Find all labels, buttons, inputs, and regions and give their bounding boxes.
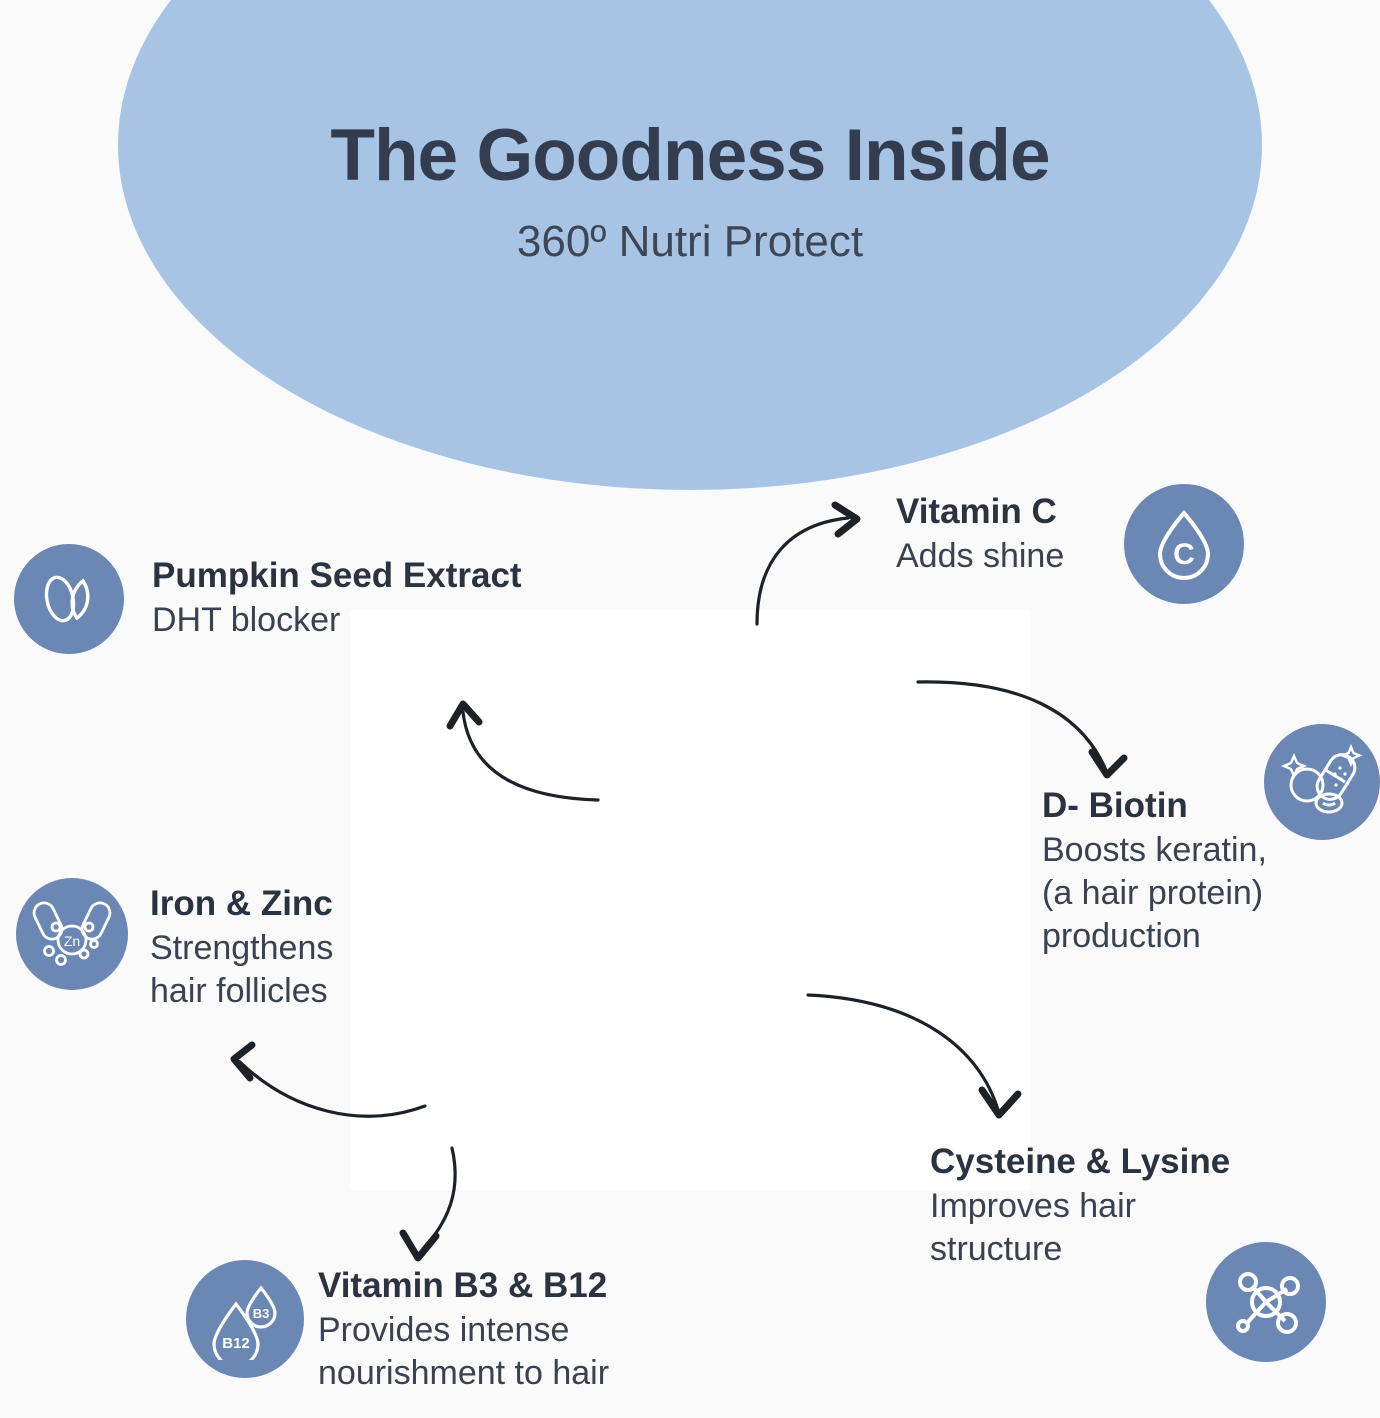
feature-title: D- Biotin bbox=[1042, 786, 1267, 825]
b3-label: B3 bbox=[253, 1306, 270, 1321]
feature-iron-zinc: Iron & Zinc Strengthens hair follicles bbox=[150, 884, 333, 1013]
b12-label: B12 bbox=[222, 1335, 250, 1352]
feature-cysteine-lysine: Cysteine & Lysine Improves hair structur… bbox=[930, 1142, 1230, 1271]
arrowhead-vitamin-b bbox=[403, 1233, 436, 1258]
feature-title: Vitamin B3 & B12 bbox=[318, 1266, 609, 1305]
b3-b12-droplets-icon: B3 B12 bbox=[186, 1260, 304, 1378]
feature-pumpkin-seed-extract: Pumpkin Seed Extract DHT blocker bbox=[152, 556, 522, 642]
capsule-backdrop bbox=[350, 610, 1030, 1190]
arrowhead-d-biotin bbox=[1092, 752, 1124, 775]
zinc-label: Zn bbox=[64, 933, 80, 949]
pumpkin-seed-icon bbox=[14, 544, 124, 654]
zinc-capsules-icon: Zn bbox=[16, 878, 128, 990]
infographic-canvas: The Goodness Inside 360º Nutri Protect bbox=[0, 0, 1380, 1418]
feature-desc: DHT blocker bbox=[152, 599, 522, 642]
arrowhead-vitamin-c bbox=[835, 505, 857, 534]
feature-title: Cysteine & Lysine bbox=[930, 1142, 1230, 1181]
feature-desc: Boosts keratin, (a hair protein) product… bbox=[1042, 829, 1267, 957]
vitamin-c-droplet-icon: C bbox=[1124, 484, 1244, 604]
feature-desc: Adds shine bbox=[896, 535, 1064, 578]
feature-title: Iron & Zinc bbox=[150, 884, 333, 923]
header-blue-dome bbox=[118, 0, 1262, 490]
feature-vitamin-b3-b12: Vitamin B3 & B12 Provides intense nouris… bbox=[318, 1266, 609, 1395]
feature-desc: Strengthens hair follicles bbox=[150, 927, 333, 1013]
vitamin-c-letter: C bbox=[1173, 538, 1195, 571]
capsule-image-area bbox=[340, 600, 1040, 1200]
feature-desc: Provides intense nourishment to hair bbox=[318, 1309, 609, 1395]
feature-vitamin-c: Vitamin C Adds shine bbox=[896, 492, 1064, 578]
pills-sparkle-icon bbox=[1264, 724, 1380, 840]
feature-d-biotin: D- Biotin Boosts keratin, (a hair protei… bbox=[1042, 786, 1267, 958]
feature-title: Vitamin C bbox=[896, 492, 1064, 531]
arrowhead-iron-zinc bbox=[234, 1045, 252, 1078]
feature-title: Pumpkin Seed Extract bbox=[152, 556, 522, 595]
feature-desc: Improves hair structure bbox=[930, 1185, 1230, 1271]
